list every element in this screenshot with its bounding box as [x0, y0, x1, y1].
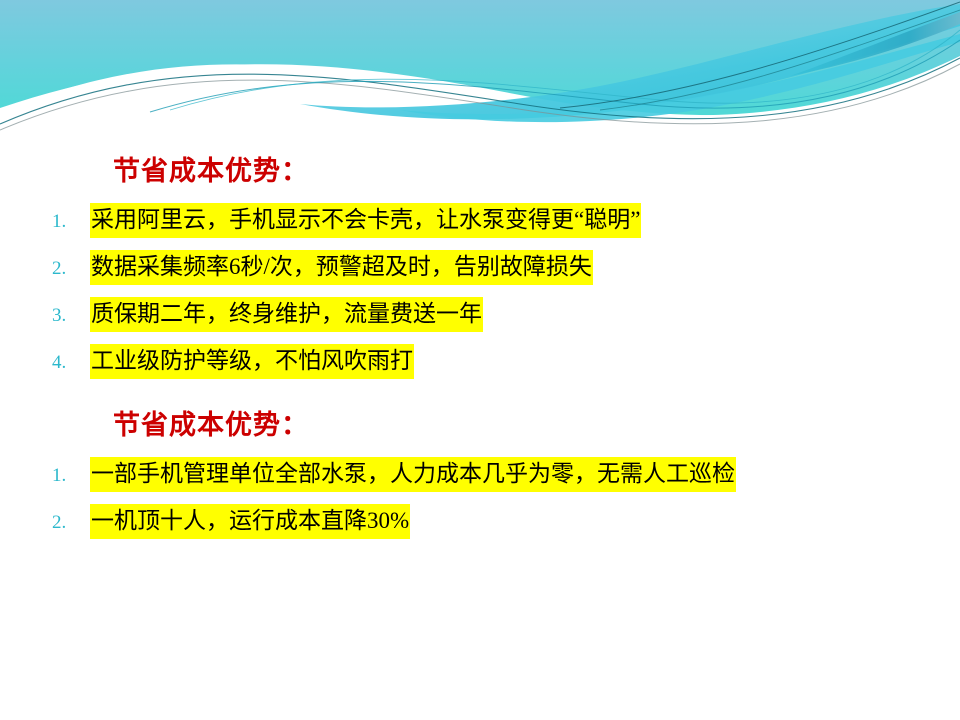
section-heading: 节省成本优势：	[0, 150, 960, 192]
list-item: 3. 质保期二年，终身维护，流量费送一年	[0, 292, 960, 339]
list-item: 2. 数据采集频率6秒/次，预警超及时，告别故障损失	[0, 245, 960, 292]
section-savings-advantage-1: 节省成本优势： 1. 采用阿里云，手机显示不会卡壳，让水泵变得更“聪明” 2. …	[0, 150, 960, 386]
list-item-text: 一机顶十人，运行成本直降30%	[90, 504, 410, 539]
list-item: 2. 一机顶十人，运行成本直降30%	[0, 499, 960, 546]
list-item-number: 1.	[52, 198, 90, 245]
list-item: 4. 工业级防护等级，不怕风吹雨打	[0, 339, 960, 386]
decorative-wave-banner	[0, 0, 960, 132]
list-item-number: 2.	[52, 245, 90, 292]
bullet-list: 1. 一部手机管理单位全部水泵，人力成本几乎为零，无需人工巡检 2. 一机顶十人…	[0, 452, 960, 546]
list-item: 1. 采用阿里云，手机显示不会卡壳，让水泵变得更“聪明”	[0, 198, 960, 245]
list-item-number: 3.	[52, 292, 90, 339]
list-item-text: 一部手机管理单位全部水泵，人力成本几乎为零，无需人工巡检	[90, 457, 736, 492]
section-savings-advantage-2: 节省成本优势： 1. 一部手机管理单位全部水泵，人力成本几乎为零，无需人工巡检 …	[0, 404, 960, 546]
list-item-number: 2.	[52, 499, 90, 546]
list-item-text: 数据采集频率6秒/次，预警超及时，告别故障损失	[90, 250, 593, 285]
wave-graphic-icon	[0, 0, 960, 132]
list-item-number: 1.	[52, 452, 90, 499]
section-heading: 节省成本优势：	[0, 404, 960, 446]
list-item-text: 质保期二年，终身维护，流量费送一年	[90, 297, 483, 332]
slide-body: 节省成本优势： 1. 采用阿里云，手机显示不会卡壳，让水泵变得更“聪明” 2. …	[0, 150, 960, 546]
presentation-slide: 节省成本优势： 1. 采用阿里云，手机显示不会卡壳，让水泵变得更“聪明” 2. …	[0, 0, 960, 720]
list-item-text: 采用阿里云，手机显示不会卡壳，让水泵变得更“聪明”	[90, 203, 641, 238]
bullet-list: 1. 采用阿里云，手机显示不会卡壳，让水泵变得更“聪明” 2. 数据采集频率6秒…	[0, 198, 960, 386]
list-item-text: 工业级防护等级，不怕风吹雨打	[90, 344, 414, 379]
list-item-number: 4.	[52, 339, 90, 386]
list-item: 1. 一部手机管理单位全部水泵，人力成本几乎为零，无需人工巡检	[0, 452, 960, 499]
